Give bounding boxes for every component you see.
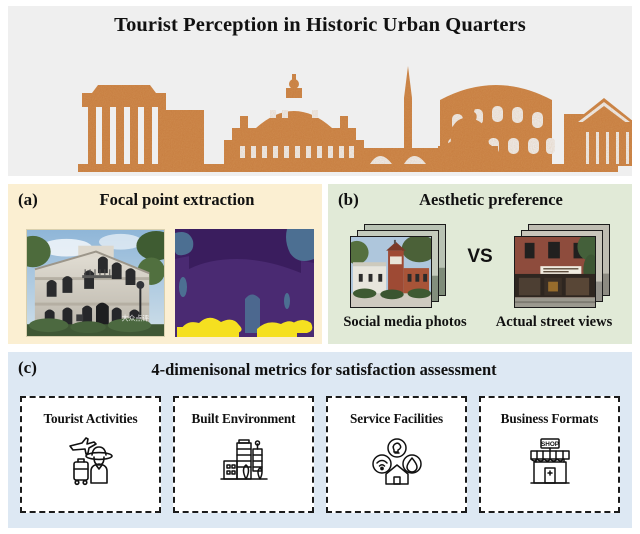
panel-a-title: Focal point extraction	[8, 190, 322, 210]
segmentation-svg	[175, 229, 314, 337]
city-buildings-icon	[216, 435, 272, 487]
shop-storefront-icon: SHOP	[522, 435, 578, 487]
panel-b-title: Aesthetic preference	[328, 190, 632, 210]
skyline-svg	[8, 54, 632, 176]
panel-satisfaction-metrics: (c) 4-dimenisonal metrics for satisfacti…	[8, 352, 632, 528]
metric-label: Business Formats	[501, 411, 599, 427]
photo-watermark: 大众点评	[122, 313, 150, 322]
tourist-traveler-icon	[63, 435, 119, 487]
actual-street-view-photo	[515, 237, 595, 307]
figure-header-panel: Tourist Perception in Historic Urban Qua…	[8, 6, 632, 176]
panel-aesthetic-preference: (b) Aesthetic preference	[328, 184, 632, 344]
metric-label: Built Environment	[192, 411, 296, 427]
shop-sign-text: SHOP	[540, 441, 559, 448]
vs-label: VS	[452, 246, 508, 268]
metric-card-row: Tourist Activities	[20, 396, 620, 513]
street-view-photo-stack	[514, 224, 610, 308]
street-view-photo-svg: 大众点评	[27, 230, 164, 336]
photo-card-front-social	[350, 236, 432, 308]
page-title: Tourist Perception in Historic Urban Qua…	[8, 14, 632, 37]
rome-skyline-illustration	[8, 54, 632, 176]
semantic-segmentation-map	[175, 229, 314, 337]
panel-b-header: (b) Aesthetic preference	[328, 190, 632, 218]
social-media-photo	[351, 237, 431, 307]
photo-card-front-street	[514, 236, 596, 308]
utilities-house-icon	[369, 435, 425, 487]
metric-card-business-formats[interactable]: Business Formats SHOP	[479, 396, 620, 513]
panel-a-header: (a) Focal point extraction	[8, 190, 322, 218]
panel-c-title: 4-dimenisonal metrics for satisfaction a…	[8, 360, 632, 380]
metric-label: Service Facilities	[350, 411, 443, 427]
actual-street-views-caption: Actual street views	[478, 314, 630, 331]
panel-focal-point-extraction: (a) Focal point extraction	[8, 184, 322, 344]
metric-label: Tourist Activities	[43, 411, 137, 427]
metric-card-service-facilities[interactable]: Service Facilities	[326, 396, 467, 513]
street-view-photo: 大众点评	[26, 229, 165, 337]
social-media-photos-caption: Social media photos	[330, 314, 480, 331]
social-media-photo-stack	[350, 224, 446, 308]
metric-card-built-environment[interactable]: Built Environment	[173, 396, 314, 513]
metric-card-tourist-activities[interactable]: Tourist Activities	[20, 396, 161, 513]
